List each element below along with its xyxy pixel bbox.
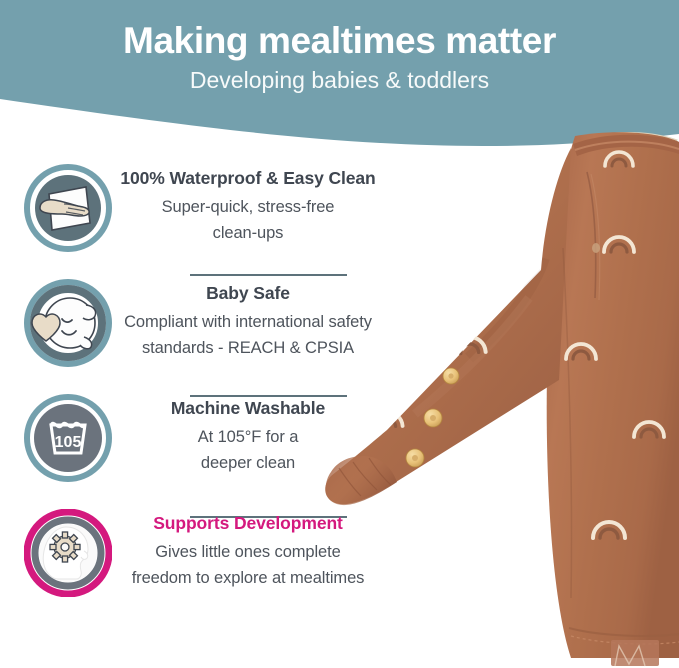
- feature-description: Compliant with international safety stan…: [112, 305, 384, 361]
- feature-row: 100% Waterproof & Easy Clean Super-quick…: [0, 158, 400, 273]
- feature-list: 100% Waterproof & Easy Clean Super-quick…: [0, 158, 400, 618]
- wipe-cloth-hand-icon: [24, 164, 112, 252]
- feature-title: Machine Washable: [112, 396, 384, 420]
- head-gear-brain-icon: [24, 509, 112, 597]
- wash-temp-label: 105: [55, 434, 82, 451]
- product-infographic: Making mealtimes matter Developing babie…: [0, 0, 679, 668]
- feature-title: Baby Safe: [112, 281, 384, 305]
- page-subtitle: Developing babies & toddlers: [0, 63, 679, 94]
- feature-description: Gives little ones complete freedom to ex…: [112, 535, 384, 591]
- wash-tub-105-icon: 105: [24, 394, 112, 482]
- feature-text-block: 100% Waterproof & Easy Clean Super-quick…: [112, 166, 384, 246]
- feature-row: 105 Machine Washable At 105°F for a deep…: [0, 388, 400, 503]
- baby-face-heart-icon: [24, 279, 112, 367]
- feature-text-block: Baby Safe Compliant with international s…: [112, 281, 384, 361]
- feature-description: At 105°F for a deeper clean: [112, 420, 384, 476]
- feature-title: Supports Development: [112, 511, 384, 535]
- feature-text-block: Supports Development Gives little ones c…: [112, 511, 384, 591]
- feature-description: Super-quick, stress-free clean-ups: [112, 190, 384, 246]
- feature-title: 100% Waterproof & Easy Clean: [112, 166, 384, 190]
- feature-row: Supports Development Gives little ones c…: [0, 503, 400, 618]
- feature-row: Baby Safe Compliant with international s…: [0, 273, 400, 388]
- page-title: Making mealtimes matter: [0, 0, 679, 63]
- feature-text-block: Machine Washable At 105°F for a deeper c…: [112, 396, 384, 476]
